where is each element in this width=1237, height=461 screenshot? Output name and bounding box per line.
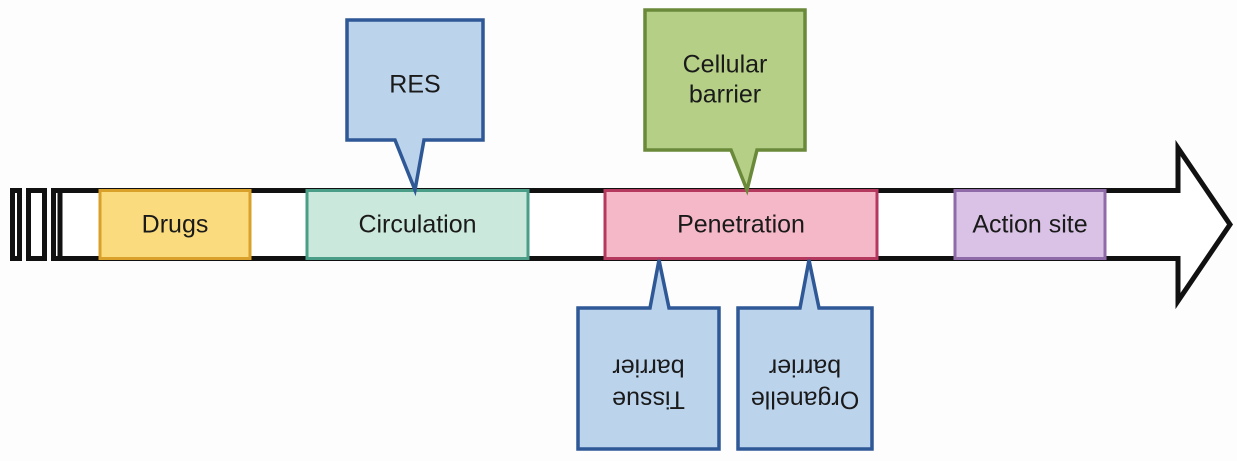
stage-box-penetration-label: Penetration	[677, 211, 805, 239]
stage-box-penetration[interactable]: Penetration	[605, 191, 877, 259]
callout-tissue-barrier-label-line2: barrier	[612, 353, 684, 381]
arrow-tail-segment-2	[29, 191, 45, 259]
stage-box-drugs-label: Drugs	[142, 211, 209, 239]
callout-cellular-barrier-label-line1: Cellular	[683, 51, 768, 79]
arrow-tail-segment-1	[13, 191, 20, 259]
callout-res-bubble	[347, 20, 483, 190]
callout-res-label: RES	[389, 71, 440, 99]
callout-organelle-barrier-label-line2: barrier	[769, 353, 841, 381]
stage-box-action-site-label: Action site	[972, 211, 1087, 239]
diagram-svg: Drugs Circulation Penetration Action sit…	[0, 0, 1237, 461]
callout-tissue-barrier-label-line1: Tissue	[612, 385, 685, 413]
stage-box-drugs[interactable]: Drugs	[100, 191, 250, 259]
callout-cellular-barrier-label-line2: barrier	[689, 81, 761, 109]
diagram-canvas: Drugs Circulation Penetration Action sit…	[0, 0, 1237, 461]
callout-tissue-barrier[interactable]: Tissue barrier	[578, 260, 719, 449]
stage-box-circulation-label: Circulation	[358, 211, 476, 239]
callout-organelle-barrier[interactable]: Organelle barrier	[738, 260, 872, 449]
stage-box-action-site[interactable]: Action site	[955, 191, 1105, 259]
callout-organelle-barrier-label-line1: Organelle	[751, 385, 859, 413]
callout-cellular-barrier[interactable]: Cellular barrier	[645, 10, 805, 190]
stage-box-circulation[interactable]: Circulation	[307, 191, 528, 259]
callout-res[interactable]: RES	[347, 20, 483, 190]
